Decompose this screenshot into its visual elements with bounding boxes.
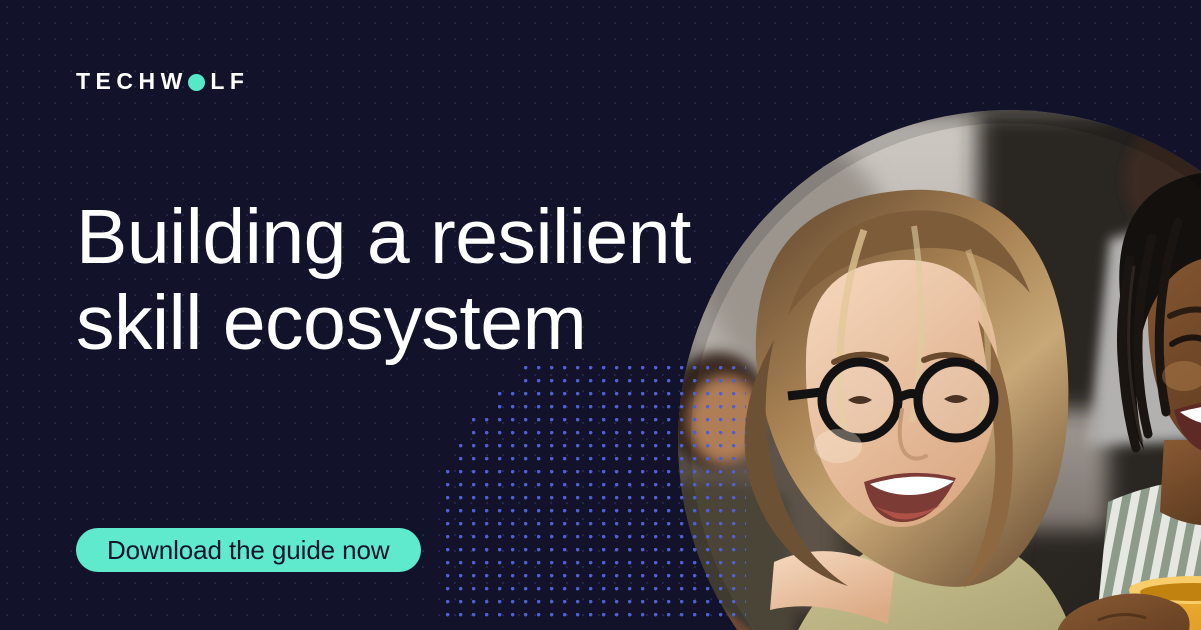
marketing-banner: TECHW LF Building a resilient skill ecos… — [0, 0, 1201, 630]
page-title: Building a resilient skill ecosystem — [76, 194, 736, 366]
logo-circle-o-icon — [188, 74, 205, 91]
hero-photo — [678, 110, 1201, 630]
logo-text-after: LF — [210, 70, 249, 93]
brand-logo[interactable]: TECHW LF — [76, 68, 249, 94]
hero-photo-illustration — [678, 110, 1201, 630]
logo-text-before: TECHW — [76, 70, 188, 93]
download-guide-button[interactable]: Download the guide now — [76, 528, 421, 572]
